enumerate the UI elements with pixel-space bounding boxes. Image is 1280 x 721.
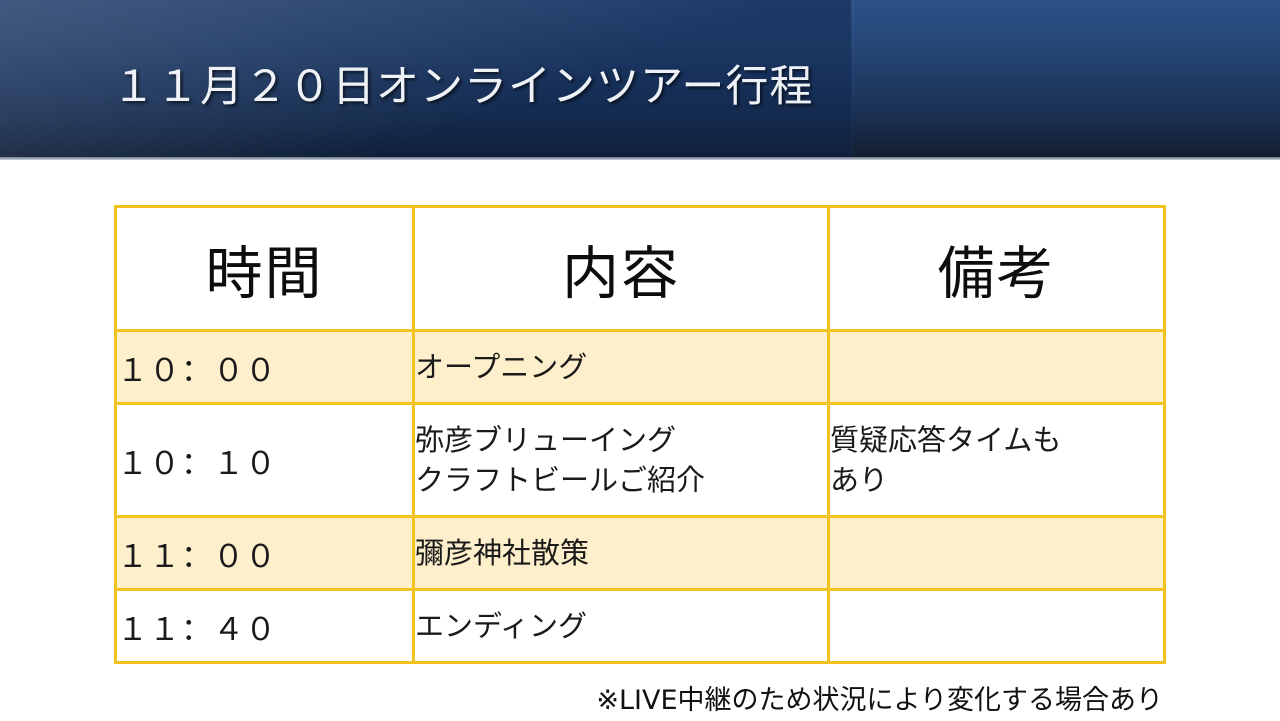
cell-time: １０：００ <box>116 331 414 404</box>
schedule-table: 時間 内容 備考 １０：００ オープニング １０：１０ 弥彦ブリューイング クラ… <box>114 205 1166 664</box>
cell-time: １０：１０ <box>116 404 414 517</box>
banner-bottom-edge <box>0 157 1280 160</box>
table-header: 時間 内容 備考 <box>116 207 1165 331</box>
title-banner: １１月２０日オンラインツアー行程 <box>0 0 1280 160</box>
table-row: １０：００ オープニング <box>116 331 1165 404</box>
cell-remarks <box>829 517 1165 590</box>
cell-remarks: 質疑応答タイムも あり <box>829 404 1165 517</box>
cell-content: 彌彦神社散策 <box>414 517 829 590</box>
column-header-time: 時間 <box>116 207 414 331</box>
banner-gradient-right <box>853 0 1280 160</box>
column-header-remarks: 備考 <box>829 207 1165 331</box>
banner-seam-divider <box>851 0 854 160</box>
cell-content: エンディング <box>414 590 829 663</box>
table-header-row: 時間 内容 備考 <box>116 207 1165 331</box>
table-row: １０：１０ 弥彦ブリューイング クラフトビールご紹介 質疑応答タイムも あり <box>116 404 1165 517</box>
column-header-content: 内容 <box>414 207 829 331</box>
table-row: １１：４０ エンディング <box>116 590 1165 663</box>
cell-remarks <box>829 331 1165 404</box>
cell-remarks <box>829 590 1165 663</box>
table-row: １１：００ 彌彦神社散策 <box>116 517 1165 590</box>
cell-content: 弥彦ブリューイング クラフトビールご紹介 <box>414 404 829 517</box>
footer-note: ※LIVE中継のため状況により変化する場合あり <box>0 678 1163 717</box>
cell-time: １１：４０ <box>116 590 414 663</box>
page-title: １１月２０日オンラインツアー行程 <box>112 52 813 114</box>
cell-time: １１：００ <box>116 517 414 590</box>
cell-content: オープニング <box>414 331 829 404</box>
table-body: １０：００ オープニング １０：１０ 弥彦ブリューイング クラフトビールご紹介 … <box>116 331 1165 663</box>
